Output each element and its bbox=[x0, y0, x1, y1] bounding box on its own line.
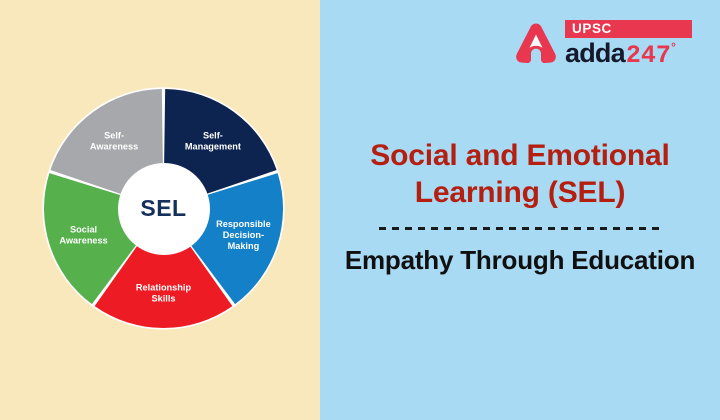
adda-number: 247° bbox=[626, 43, 678, 68]
adda-word: adda bbox=[565, 40, 625, 67]
infographic-canvas: Self-ManagementResponsibleDecision-Makin… bbox=[0, 0, 720, 420]
adda-number-digits: 247 bbox=[626, 41, 671, 70]
donut-center-hub: SEL bbox=[118, 163, 210, 255]
page-subtitle: Empathy Through Education bbox=[342, 244, 698, 276]
page-title: Social and Emotional Learning (SEL) bbox=[342, 138, 698, 211]
sel-donut-chart: Self-ManagementResponsibleDecision-Makin… bbox=[42, 87, 285, 330]
logo-wordmark-group: UPSC adda 247° bbox=[565, 20, 692, 68]
adda247-a-logo-icon bbox=[514, 21, 558, 67]
left-illustration-panel: Self-ManagementResponsibleDecision-Makin… bbox=[0, 0, 320, 420]
donut-center-label: SEL bbox=[140, 195, 186, 222]
dashed-divider bbox=[379, 227, 661, 230]
headline-block: Social and Emotional Learning (SEL) Empa… bbox=[320, 138, 720, 276]
adda-number-degree: ° bbox=[670, 41, 677, 55]
adda247-wordmark: adda 247° bbox=[565, 40, 678, 68]
brand-logo[interactable]: UPSC adda 247° bbox=[514, 20, 692, 68]
right-content-panel: UPSC adda 247° Social and Emotional Lear… bbox=[320, 0, 720, 420]
upsc-badge: UPSC bbox=[565, 20, 692, 38]
